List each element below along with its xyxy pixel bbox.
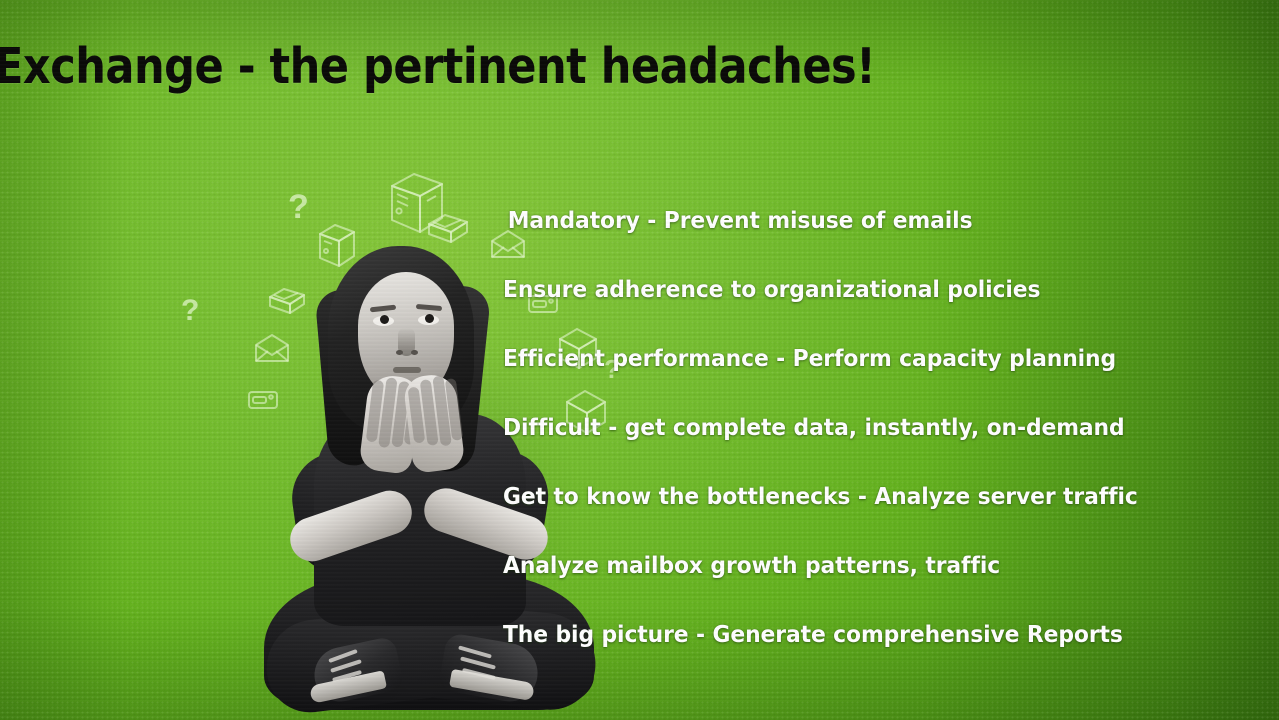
question-mark-icon: ?: [288, 190, 309, 224]
bullet-item: Efficient performance - Perform capacity…: [503, 324, 1168, 393]
bullet-item: Get to know the bottlenecks - Analyze se…: [503, 462, 1168, 531]
slide-title: Exchange - the pertinent headaches!: [0, 38, 875, 96]
bullet-item: The big picture - Generate comprehensive…: [503, 600, 1168, 669]
presentation-slide: ? ? ? ?: [0, 0, 1279, 720]
bullet-item: Analyze mailbox growth patterns, traffic: [503, 531, 1168, 600]
question-mark-icon: ?: [181, 296, 199, 326]
bullet-item: Mandatory - Prevent misuse of emails: [503, 186, 1168, 255]
bullet-item: Ensure adherence to organizational polic…: [503, 255, 1168, 324]
bullet-item: Difficult - get complete data, instantly…: [503, 393, 1168, 462]
bullet-list: Mandatory - Prevent misuse of emails Ens…: [503, 186, 1203, 669]
